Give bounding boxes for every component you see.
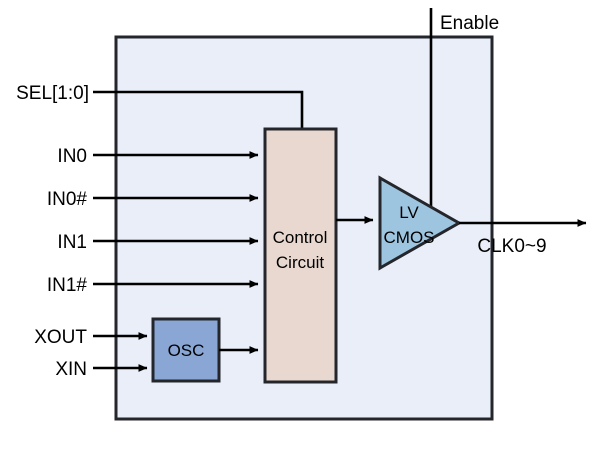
in1-label: IN1 xyxy=(57,232,87,253)
xin-label: XIN xyxy=(55,359,87,380)
enable-label: Enable xyxy=(440,13,499,34)
in0-label: IN0 xyxy=(57,146,87,167)
control-block-label-line1: Control xyxy=(273,228,328,247)
buffer-label-line2: CMOS xyxy=(384,228,435,247)
xout-label: XOUT xyxy=(34,327,87,348)
buffer-label-line1: LV xyxy=(399,203,419,222)
sel-label: SEL[1:0] xyxy=(16,83,89,104)
osc-block-label: OSC xyxy=(168,341,205,360)
output-label: CLK0~9 xyxy=(477,236,546,257)
in1n-label: IN1# xyxy=(47,275,88,296)
block-diagram-canvas: SEL[1:0] IN0 IN0# IN1 IN1# XOUT XIN OSC … xyxy=(0,0,602,450)
control-block-label-line2: Circuit xyxy=(276,253,324,272)
in0n-label: IN0# xyxy=(47,189,88,210)
block-diagram-svg: SEL[1:0] IN0 IN0# IN1 IN1# XOUT XIN OSC … xyxy=(0,0,602,450)
